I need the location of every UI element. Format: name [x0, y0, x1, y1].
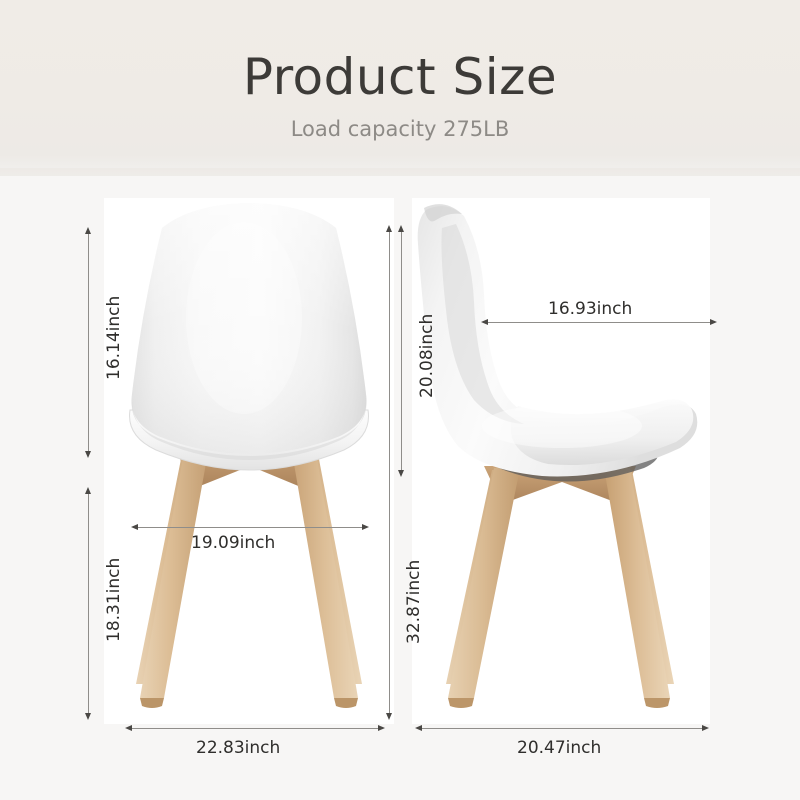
arrow-left-icon	[481, 319, 488, 325]
arrow-right-icon	[710, 319, 717, 325]
dimension-label-20-08: 20.08inch	[417, 314, 437, 398]
dimension-line-vertical	[401, 230, 402, 475]
arrow-down-icon	[85, 451, 91, 458]
product-size-infographic: Product Size Load capacity 275LB	[0, 0, 800, 800]
arrow-down-icon	[386, 713, 392, 720]
arrow-left-icon	[125, 725, 132, 731]
arrow-up-icon	[85, 227, 91, 234]
arrow-down-icon	[85, 713, 91, 720]
dimension-label-32-87: 32.87inch	[404, 560, 424, 644]
dimension-label-20-47: 20.47inch	[517, 738, 601, 758]
arrow-left-icon	[415, 725, 422, 731]
dimension-label-16-93: 16.93inch	[548, 299, 632, 319]
dimension-line-horizontal	[130, 728, 378, 729]
arrow-up-icon	[85, 487, 91, 494]
dimension-line-horizontal	[136, 527, 362, 528]
dimension-line-horizontal	[486, 322, 710, 323]
arrow-left-icon	[131, 524, 138, 530]
dimension-label-19-09: 19.09inch	[191, 533, 275, 553]
dimension-line-vertical	[88, 492, 89, 718]
arrow-up-icon	[398, 225, 404, 232]
front-view-chair-image	[104, 198, 394, 724]
arrow-right-icon	[378, 725, 385, 731]
page-title: Product Size	[0, 48, 800, 106]
dimension-line-horizontal	[420, 728, 702, 729]
page-subtitle: Load capacity 275LB	[0, 117, 800, 141]
arrow-right-icon	[702, 725, 709, 731]
dimension-line-vertical	[88, 232, 89, 456]
dimension-label-18-31: 18.31inch	[104, 558, 124, 642]
arrow-up-icon	[386, 225, 392, 232]
arrow-right-icon	[362, 524, 369, 530]
front-view-chair-svg	[104, 198, 394, 724]
arrow-down-icon	[398, 470, 404, 477]
dimension-label-16-14: 16.14inch	[104, 296, 124, 380]
side-view-chair-svg	[412, 198, 710, 724]
dimension-line-vertical	[389, 230, 390, 718]
dimension-label-22-83: 22.83inch	[196, 738, 280, 758]
side-view-chair-image	[412, 198, 710, 724]
diagram-stage: 16.14inch 18.31inch 19.09inch 22.83inch	[0, 176, 800, 800]
